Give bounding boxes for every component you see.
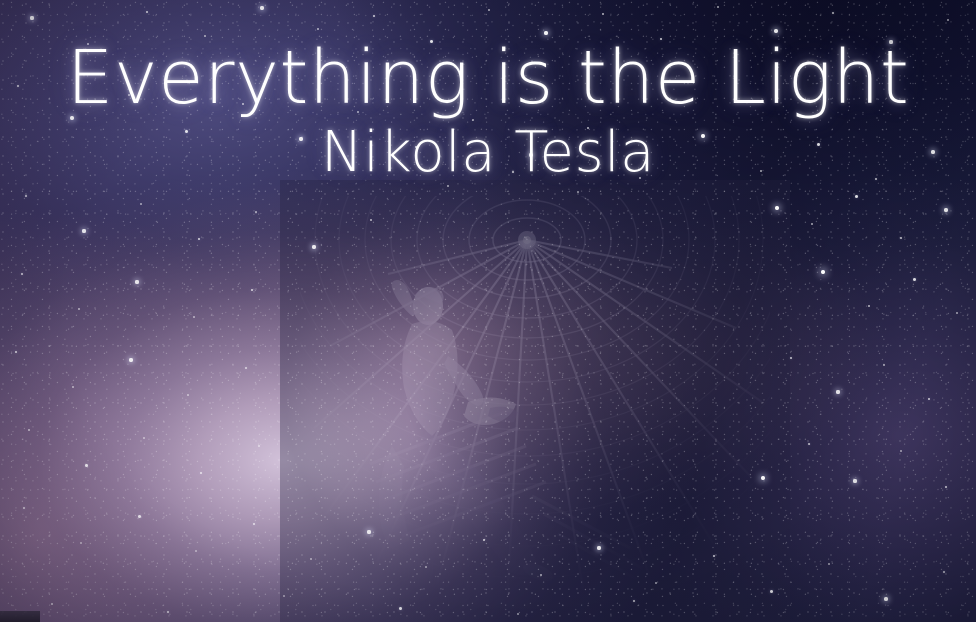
star: [253, 523, 256, 526]
star: [944, 208, 948, 212]
star: [195, 550, 197, 552]
star: [258, 445, 260, 447]
star: [928, 398, 931, 401]
star: [251, 289, 254, 292]
star: [828, 563, 830, 565]
star: [587, 127, 589, 129]
star: [602, 13, 604, 15]
star: [193, 316, 195, 318]
coil-hub: [518, 231, 536, 249]
star: [774, 29, 778, 33]
star: [425, 566, 427, 568]
nebula-mauve-cloud: [0, 0, 976, 622]
star: [540, 574, 542, 576]
tesla-figure: [370, 280, 652, 588]
star: [255, 211, 257, 213]
nebula-right-mass: [0, 0, 976, 622]
star: [87, 43, 89, 45]
star: [146, 11, 149, 14]
star: [701, 134, 705, 138]
star: [15, 351, 18, 354]
star: [517, 613, 519, 615]
star: [204, 35, 206, 37]
star: [817, 143, 820, 146]
star: [931, 150, 935, 154]
star: [811, 223, 813, 225]
star: [78, 308, 80, 310]
star: [956, 312, 958, 314]
nebula-dark-pocket: [0, 0, 976, 622]
star: [900, 450, 902, 452]
coil-rings: [300, 196, 770, 578]
star: [283, 595, 285, 597]
nebula-blue-cloud: [0, 0, 976, 622]
star: [370, 219, 372, 221]
star: [770, 590, 773, 593]
star: [760, 170, 762, 172]
star: [415, 146, 418, 149]
star: [30, 16, 33, 19]
tesla-photo-edge-fade: [280, 180, 790, 622]
star: [17, 85, 20, 88]
quote-text-block: Everything is the Light Nikola Tesla: [0, 40, 976, 182]
star: [512, 171, 515, 174]
star: [900, 237, 902, 239]
nebula-base-layer: [0, 0, 976, 622]
star: [645, 162, 648, 165]
star: [529, 153, 532, 156]
star: [399, 607, 402, 610]
star-field: [0, 0, 976, 622]
star: [836, 390, 839, 393]
star: [832, 12, 834, 14]
star: [945, 486, 948, 489]
nebula-core-glow: [0, 0, 976, 622]
star: [80, 542, 82, 544]
star: [373, 15, 376, 18]
star: [868, 305, 870, 307]
star: [129, 358, 132, 361]
star: [913, 278, 916, 281]
tesla-quote-card: Everything is the Light Nikola Tesla: [0, 0, 976, 622]
star: [70, 116, 74, 120]
star: [138, 515, 141, 518]
star: [889, 40, 892, 43]
star: [140, 203, 142, 205]
star: [85, 464, 88, 467]
bottom-left-cutoff-bar: [0, 611, 40, 622]
star: [21, 273, 24, 276]
star: [447, 185, 449, 187]
star: [430, 40, 433, 43]
star: [483, 539, 486, 542]
star: [713, 555, 716, 558]
star: [790, 357, 793, 360]
vignette-overlay: [0, 0, 976, 622]
star: [597, 546, 600, 549]
coil-spokes: [314, 240, 762, 622]
star: [310, 558, 312, 560]
star: [821, 270, 826, 275]
star: [23, 507, 25, 509]
star: [72, 386, 74, 388]
star: [28, 429, 30, 431]
star: [260, 6, 263, 9]
star: [317, 28, 319, 30]
star: [135, 280, 138, 283]
star: [185, 130, 188, 133]
star: [855, 195, 858, 198]
star: [200, 472, 203, 475]
star: [775, 206, 779, 210]
star: [808, 443, 810, 445]
tesla-lab-photo: [300, 196, 770, 622]
star: [875, 178, 877, 180]
star: [633, 600, 635, 602]
nebula-rose-band: [0, 0, 976, 622]
star: [660, 38, 663, 41]
star: [639, 177, 641, 179]
star: [187, 394, 189, 396]
star: [717, 6, 719, 8]
star: [472, 119, 474, 121]
star: [245, 367, 247, 369]
star: [82, 229, 85, 232]
star: [761, 476, 765, 480]
star: [198, 238, 201, 241]
star: [167, 611, 170, 614]
star: [357, 111, 359, 113]
quote-attribution: Nikola Tesla: [0, 123, 976, 182]
star: [884, 597, 888, 601]
star: [947, 19, 949, 21]
star: [883, 364, 885, 366]
star: [544, 31, 548, 35]
star: [242, 103, 244, 105]
star: [312, 245, 315, 248]
star: [943, 571, 945, 573]
star: [299, 137, 302, 140]
star: [853, 479, 856, 482]
star: [128, 94, 130, 96]
star: [367, 530, 370, 533]
star: [25, 195, 27, 197]
star: [488, 9, 490, 11]
quote-title: Everything is the Light: [0, 40, 976, 117]
nebula-dust-lane: [0, 0, 976, 622]
star: [143, 437, 145, 439]
star: [51, 603, 53, 605]
star-dust-texture: [0, 0, 976, 622]
star: [577, 191, 579, 193]
star: [655, 582, 657, 584]
